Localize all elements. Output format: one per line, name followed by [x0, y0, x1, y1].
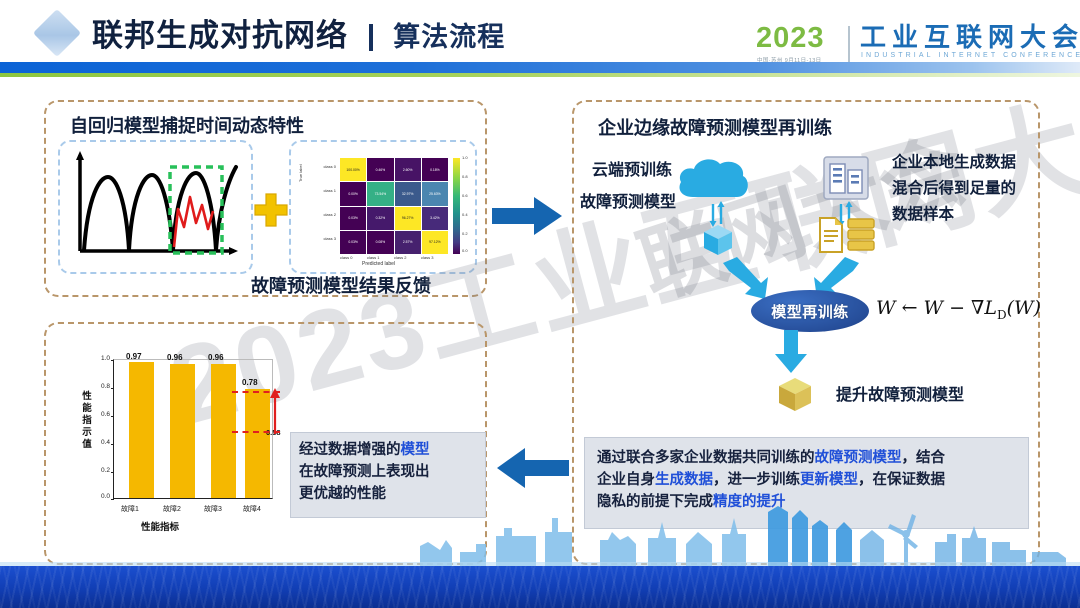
logo-english-text: INDUSTRIAL INTERNET CONFERENCE [861, 52, 1080, 59]
conclusion-line2: 在故障预测上表现出 [299, 461, 485, 483]
bar-value-3: 0.78 [242, 378, 258, 387]
cm-xlabel: Predicted label [362, 261, 395, 267]
cm-colorbar-tick: 0.4 [462, 212, 468, 217]
logo-divider [848, 26, 850, 62]
right-arrow-icon [492, 195, 564, 237]
cm-colorbar-tick: 0.0 [462, 248, 468, 253]
cm-cell: 0.03% [340, 231, 366, 254]
cm-cell: 25.63% [422, 182, 448, 205]
cm-cell: 96.27% [395, 207, 421, 230]
cm-row-label-0: class 0 [310, 164, 336, 169]
cm-cell: 0.46% [367, 158, 393, 181]
panel-edge-retraining-title: 企业边缘故障预测模型再训练 [598, 114, 832, 140]
cm-col-label-3: class 3 [421, 255, 433, 260]
chart-ytick: 0.8 [92, 383, 110, 390]
cm-cell: 97.12% [422, 231, 448, 254]
enterprise-building-icon [823, 156, 869, 200]
retrain-badge-label: 模型再训练 [771, 301, 849, 322]
chart-ytick: 0.4 [92, 439, 110, 446]
cm-colorbar-tick: 0.8 [462, 174, 468, 179]
enterprise-text-line1: 企业本地生成数据 [892, 150, 1016, 175]
formula-subscript: D [997, 308, 1007, 322]
footer-band [0, 566, 1080, 608]
cm-cell: 100.00% [340, 158, 366, 181]
chart-ytick: 1.0 [92, 355, 110, 362]
summary-l2-highlight-2: 更新模型 [800, 472, 858, 488]
cm-cell: 0.08% [367, 231, 393, 254]
bar-1 [170, 364, 195, 498]
chart-plot-area: 1.0 0.8 0.6 0.4 0.2 0.0 0.97 0.96 0.96 0… [113, 359, 273, 499]
cm-col-label-2: class 2 [394, 255, 406, 260]
cm-colorbar-tick: 0.6 [462, 193, 468, 198]
feedback-caption: 故障预测模型结果反馈 [251, 272, 431, 298]
diamond-icon [33, 9, 81, 57]
page-title: 联邦生成对抗网络 算法流程 [92, 10, 505, 55]
conclusion-line3: 更优越的性能 [299, 483, 485, 505]
summary-l2-b: ，进一步训练 [713, 472, 800, 488]
cloud-pretrain-label-line1: 云端预训练 [592, 156, 672, 180]
bar-0 [129, 362, 154, 498]
cloud-pretrain-label-line2: 故障预测模型 [580, 188, 676, 212]
logo-year: 2023 [756, 24, 825, 53]
cm-ylabel: True label [298, 164, 303, 182]
page-subtitle: 算法流程 [393, 22, 505, 52]
summary-l1-b: ，结合 [902, 450, 946, 466]
cm-cell: 0.32% [367, 207, 393, 230]
summary-l1-a: 通过联合多家企业数据共同训练的 [597, 450, 815, 466]
cm-col-label-1: class 1 [367, 255, 379, 260]
retrain-badge: 模型再训练 [751, 290, 869, 332]
cm-cell: 73.54% [367, 182, 393, 205]
cm-cell: 2.60% [395, 158, 421, 181]
cm-cell: 3.42% [422, 207, 448, 230]
slide-root: 联邦生成对抗网络 算法流程 2023 中国·苏州 9月11日-13日 工业互联网… [0, 0, 1080, 608]
city-skyline-decoration [0, 506, 1080, 566]
cm-col-label-0: class 0 [340, 255, 352, 260]
chart-ytick: 0.6 [92, 411, 110, 418]
plus-icon [253, 192, 289, 228]
enterprise-text-line3: 数据样本 [892, 202, 954, 227]
logo-main-text: 工业互联网大会 [860, 24, 1080, 51]
confusion-matrix-figure: True label class 0 class 1 class 2 class… [296, 152, 468, 270]
database-icon [848, 219, 874, 250]
enterprise-text-line2: 混合后得到足量的 [892, 176, 1016, 201]
gold-cube-model-icon [776, 374, 814, 414]
document-and-database-icon [818, 216, 876, 254]
bar-value-2: 0.96 [208, 353, 224, 362]
summary-l2-highlight-1: 生成数据 [655, 472, 713, 488]
down-arrow-icon [774, 330, 808, 374]
bar-value-1: 0.96 [167, 353, 183, 362]
left-arrow-icon [495, 446, 569, 490]
slide-header: 联邦生成对抗网络 算法流程 2023 中国·苏州 9月11日-13日 工业互联网… [0, 0, 1080, 62]
conclusion-line1-highlight: 模型 [401, 442, 430, 458]
header-blue-bar [0, 62, 1080, 73]
bar-3 [245, 389, 270, 498]
formula-main: W ← W − ∇L [876, 297, 997, 319]
page-title-main: 联邦生成对抗网络 [92, 18, 348, 53]
formula-tail: (W) [1007, 297, 1041, 319]
improve-model-label: 提升故障预测模型 [836, 381, 964, 405]
cm-cell: 2.57% [395, 231, 421, 254]
cm-row-label-2: class 2 [310, 212, 336, 217]
cm-cell: 0.00% [340, 182, 366, 205]
cm-colorbar [453, 158, 460, 254]
bar-value-0: 0.97 [126, 352, 142, 361]
summary-l2-c: ，在保证数据 [858, 472, 945, 488]
retrain-formula: W ← W − ∇LD(W) [876, 297, 1041, 322]
header-green-bar [0, 73, 1080, 77]
conclusion-line1-pre: 经过数据增强的 [299, 442, 401, 458]
cm-colorbar-tick: 1.0 [462, 155, 468, 160]
cm-row-label-1: class 1 [310, 188, 336, 193]
cm-cell: 0.18% [422, 158, 448, 181]
title-separator [369, 24, 373, 51]
chart-ytick: 0.2 [92, 467, 110, 474]
cm-cell: 0.03% [340, 207, 366, 230]
chart-ytick: 0.0 [92, 493, 110, 500]
cm-grid: 100.00% 0.46% 2.60% 0.18% 0.00% 73.54% 3… [340, 158, 448, 254]
cm-cell: 32.97% [395, 182, 421, 205]
blue-cube-model-icon [701, 222, 735, 258]
panel-autoregressive-title: 自回归模型捕捉时间动态特性 [70, 112, 304, 138]
document-icon [820, 218, 842, 252]
annotation-up-arrow-icon [269, 388, 281, 434]
summary-l2-a: 企业自身 [597, 472, 655, 488]
cloud-icon [675, 155, 751, 201]
cm-colorbar-tick: 0.2 [462, 231, 468, 236]
waveform-chart-icon [66, 147, 243, 267]
summary-l1-highlight: 故障预测模型 [815, 450, 902, 466]
down-arrow-icon [721, 257, 769, 301]
cm-row-label-3: class 3 [310, 236, 336, 241]
